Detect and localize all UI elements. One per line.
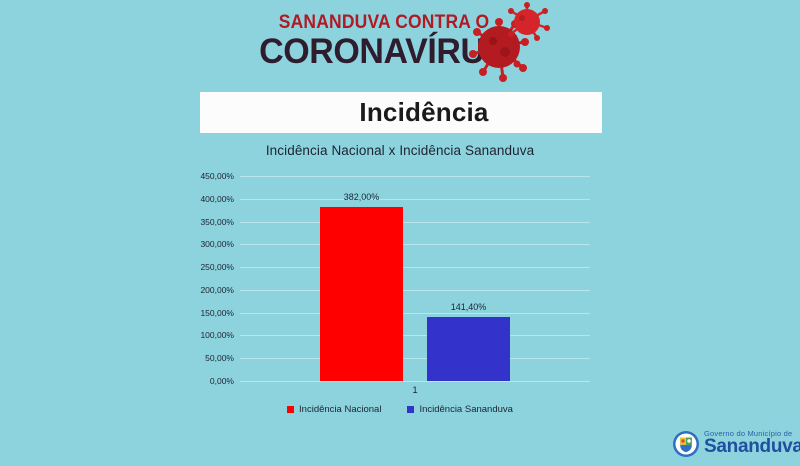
y-axis-tick-label: 100,00% <box>176 330 234 340</box>
y-axis-tick-label: 150,00% <box>176 308 234 318</box>
campaign-header: SANANDUVA CONTRA O CORONAVÍRUS <box>0 4 800 84</box>
campaign-header-text: SANANDUVA CONTRA O CORONAVÍRUS <box>250 4 550 84</box>
legend-color-swatch <box>407 406 414 413</box>
incidence-bar-chart: Incidência Nacional x Incidência Sanandu… <box>0 138 800 438</box>
y-axis-tick-label: 450,00% <box>176 171 234 181</box>
chart-legend: Incidência NacionalIncidência Sananduva <box>0 404 800 415</box>
bar-incidencia-sananduva[interactable] <box>427 317 510 381</box>
gridline <box>240 381 590 382</box>
slide-canvas: SANANDUVA CONTRA O CORONAVÍRUS <box>0 0 800 466</box>
legend-label: Incidência Sananduva <box>419 404 513 415</box>
y-axis-tick-label: 200,00% <box>176 285 234 295</box>
municipality-logo: Governo do Município de Sananduva <box>672 424 796 464</box>
gridline <box>240 267 590 268</box>
logo-city-name: Sananduva <box>704 436 800 458</box>
slide-title-banner: Incidência <box>200 92 602 133</box>
y-axis-tick-label: 50,00% <box>176 353 234 363</box>
y-axis-tick-label: 300,00% <box>176 239 234 249</box>
bar-incidencia-nacional[interactable] <box>320 207 403 381</box>
y-axis-tick-labels: 0,00%50,00%100,00%150,00%200,00%250,00%3… <box>176 176 234 381</box>
y-axis-tick-label: 0,00% <box>176 376 234 386</box>
page-title: Incidência <box>313 97 488 128</box>
legend-label: Incidência Nacional <box>299 404 381 415</box>
gridline <box>240 222 590 223</box>
y-axis-tick-label: 350,00% <box>176 217 234 227</box>
gridline <box>240 313 590 314</box>
legend-color-swatch <box>287 406 294 413</box>
gridline <box>240 335 590 336</box>
chart-plot-area: 382,00%141,40% <box>240 176 590 381</box>
gridline <box>240 176 590 177</box>
gridline <box>240 244 590 245</box>
chart-title: Incidência Nacional x Incidência Sanandu… <box>0 143 800 158</box>
gridline <box>240 358 590 359</box>
x-axis-category-label: 1 <box>240 385 590 396</box>
y-axis-tick-label: 400,00% <box>176 194 234 204</box>
bar-value-label: 141,40% <box>451 302 487 312</box>
y-axis-tick-label: 250,00% <box>176 262 234 272</box>
gridline <box>240 199 590 200</box>
legend-item[interactable]: Incidência Nacional <box>287 404 381 415</box>
municipal-coat-of-arms-icon <box>672 430 700 458</box>
legend-item[interactable]: Incidência Sananduva <box>407 404 513 415</box>
coronavirus-icon <box>465 2 555 84</box>
bar-value-label: 382,00% <box>344 192 380 202</box>
gridline <box>240 290 590 291</box>
